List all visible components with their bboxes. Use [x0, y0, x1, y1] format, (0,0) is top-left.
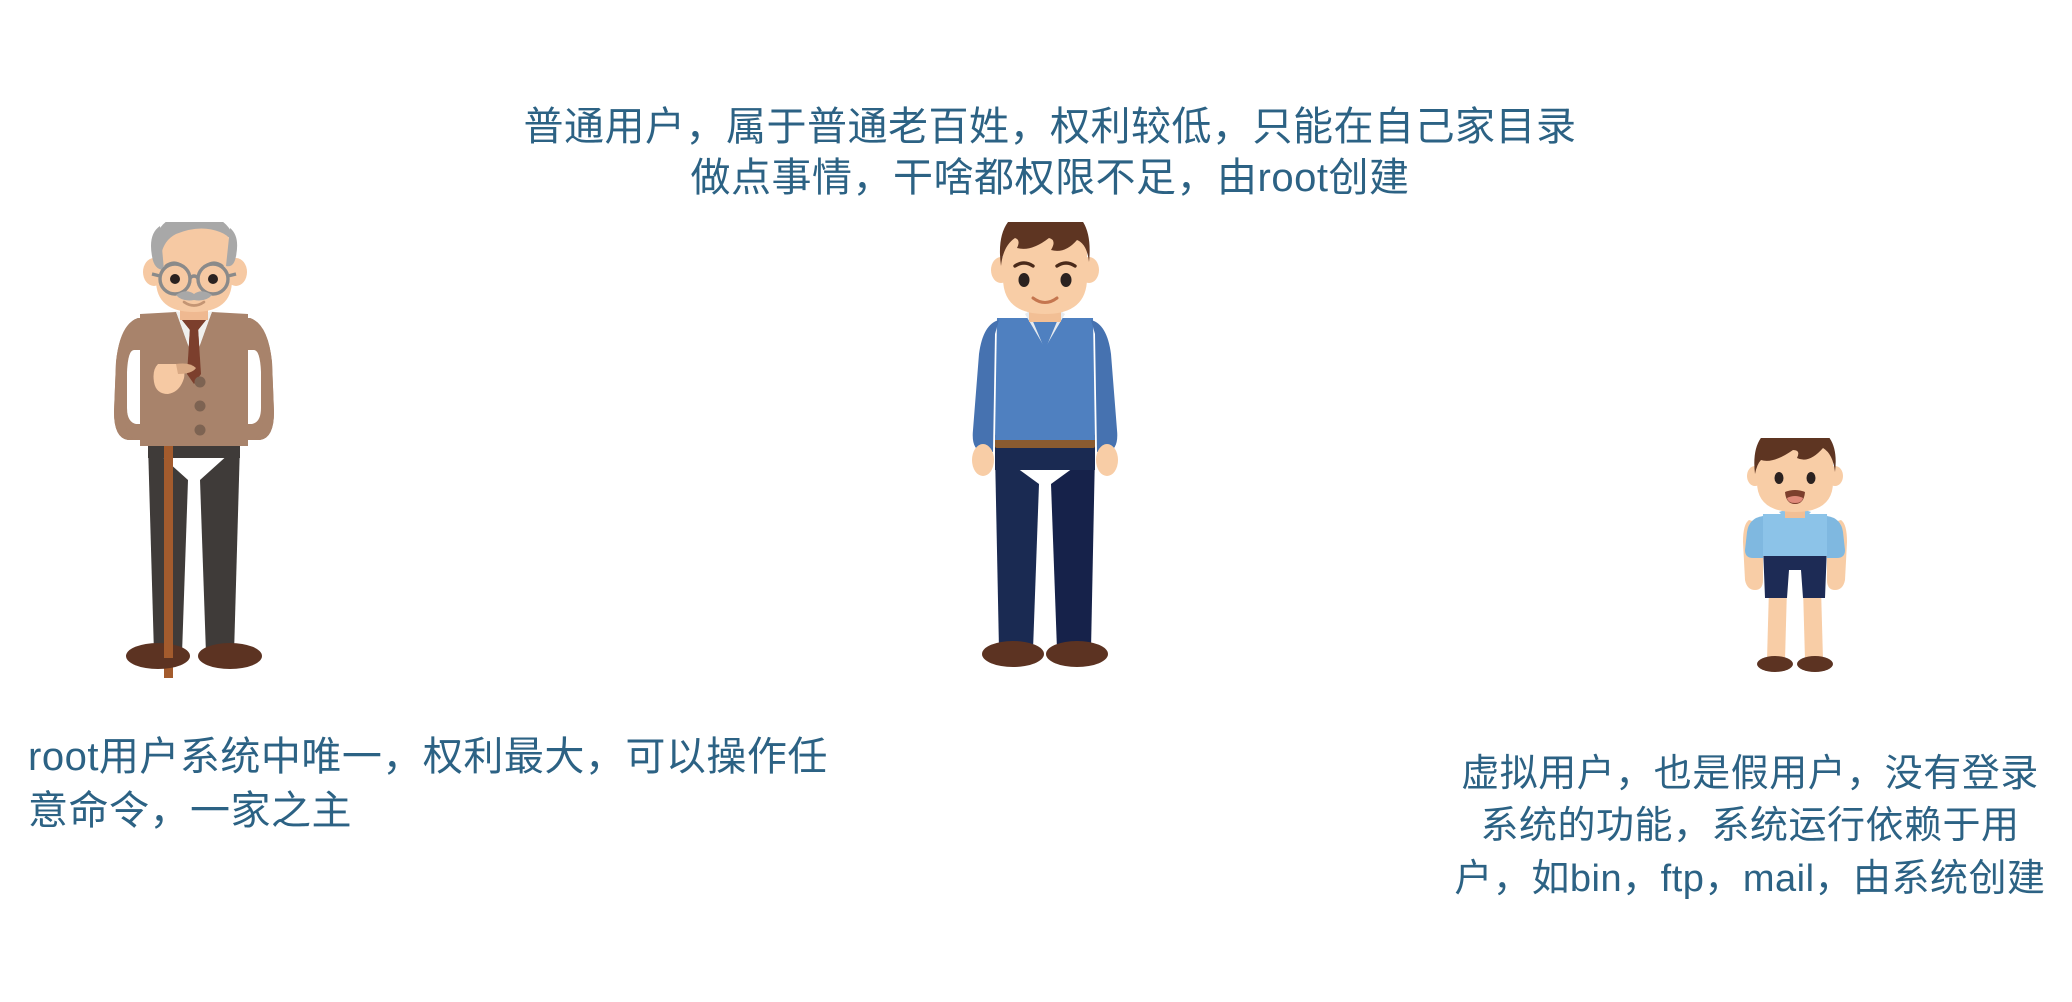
pants: [148, 434, 240, 654]
eye: [1807, 472, 1816, 484]
shoes: [982, 641, 1108, 667]
caption-root-user: root用户系统中唯一，权利最大，可以操作任意命令，一家之主: [28, 730, 858, 838]
eye: [208, 274, 218, 284]
shoes: [1757, 656, 1833, 672]
hand: [972, 444, 994, 476]
legs: [1767, 588, 1823, 660]
figure-elderly-root-user: [80, 222, 350, 682]
eye: [1775, 472, 1784, 484]
pants: [995, 446, 1095, 650]
slide-canvas: 普通用户，属于普通老百姓，权利较低，只能在自己家目录做点事情，干啥都权限不足，由…: [0, 0, 2072, 1002]
caption-normal-user: 普通用户，属于普通老百姓，权利较低，只能在自己家目录做点事情，干啥都权限不足，由…: [505, 102, 1595, 204]
figure-child-virtual-user: [1705, 438, 1885, 683]
eye: [170, 274, 180, 284]
caption-virtual-user: 虚拟用户，也是假用户，没有登录系统的功能，系统运行依赖于用户，如bin，ftp，…: [1450, 748, 2050, 905]
eye: [1061, 273, 1072, 287]
shoes: [126, 643, 262, 669]
figure-adult-normal-user: [925, 222, 1165, 682]
button: [195, 401, 206, 412]
button: [195, 377, 206, 388]
cardigan: [114, 308, 274, 446]
button: [195, 425, 206, 436]
sweater: [973, 310, 1118, 452]
hand: [1096, 444, 1118, 476]
eye: [1019, 273, 1030, 287]
